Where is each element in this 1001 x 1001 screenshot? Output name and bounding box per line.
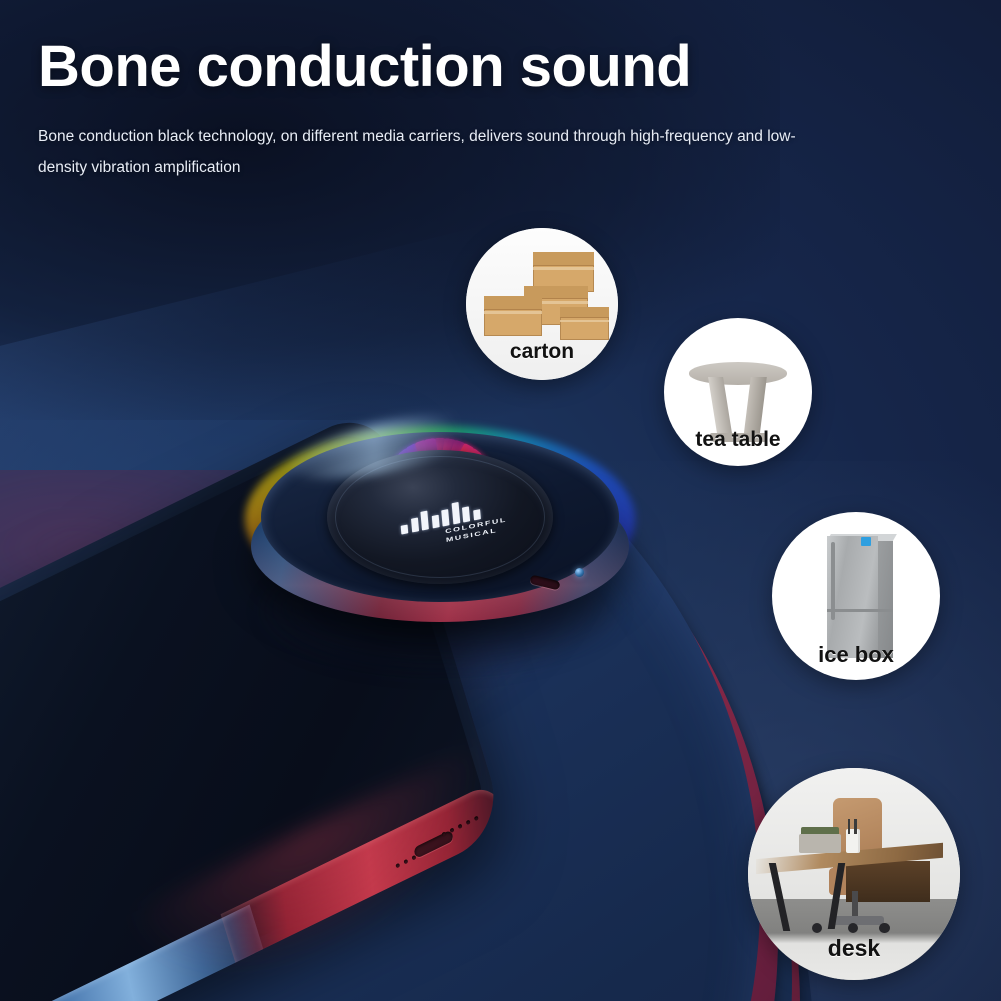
eq-segment-32: [381, 470, 402, 487]
rgb-speaker-device: COLORFUL MUSICAL: [245, 392, 635, 672]
power-button: [575, 568, 584, 577]
eq-segment-29: [378, 498, 397, 510]
callout-desk[interactable]: desk: [748, 768, 960, 980]
eq-segment-31: [379, 479, 399, 494]
carton-box-right: [560, 307, 609, 340]
logo-bar-2: [411, 518, 419, 533]
phone-charging-port: [413, 830, 454, 859]
phone-speaker-grille-right: [442, 816, 479, 837]
platform-lower-edge-highlight: [0, 470, 800, 1001]
eq-segment-23: [406, 536, 424, 557]
phone-side-rail-blue: [0, 904, 264, 1001]
desk-pen-1: [848, 819, 851, 834]
callout-tea-table[interactable]: tea table: [664, 318, 812, 466]
phone-speaker-grille-left: [395, 855, 416, 869]
logo-bar-3: [420, 511, 429, 531]
eq-segment-19: [442, 543, 456, 562]
eq-segment-20: [435, 544, 446, 562]
rgb-equalizer-ring: [261, 432, 619, 602]
platform-middle-tier: [0, 470, 792, 1001]
desk-planter-box: [799, 834, 841, 853]
smartphone-product-shot: [0, 404, 507, 1001]
equalizer-bars-logo: [400, 498, 481, 534]
eq-segment-22: [415, 540, 431, 560]
device-side-wall: [251, 470, 629, 622]
page-title: Bone conduction sound: [38, 36, 838, 99]
device-disc-ring: [335, 456, 545, 578]
eq-segment-15: [469, 526, 489, 546]
phone-side-rail-red: [220, 781, 507, 965]
brand-name: COLORFUL MUSICAL: [444, 515, 507, 544]
eq-segment-30: [378, 489, 397, 501]
banner-header: Bone conduction sound Bone conduction bl…: [38, 36, 838, 184]
device-side-highlight: [251, 470, 629, 622]
eq-segment-8: [478, 470, 499, 487]
callout-desk-label: desk: [748, 935, 960, 962]
callout-carton[interactable]: carton: [466, 228, 618, 380]
eq-segment-26: [385, 520, 406, 539]
eq-segment-27: [381, 513, 402, 530]
eq-segment-33: [385, 461, 406, 480]
eq-segment-18: [449, 540, 465, 560]
logo-bar-5: [441, 509, 449, 526]
fridge-front-panel: [827, 536, 877, 659]
desk-pen-2: [854, 819, 857, 834]
phone-chassis: [0, 404, 507, 1001]
logo-bar-1: [401, 525, 409, 535]
phone-reflection-glow: [128, 743, 516, 1001]
logo-bar-4: [431, 515, 439, 529]
brand-line-colorful: COLORFUL: [444, 515, 506, 536]
eq-segment-21: [424, 543, 438, 562]
platform-lower-tier: [0, 470, 814, 1001]
fridge-handle: [831, 542, 835, 619]
promo-banner: COLORFUL MUSICAL carton tea table: [0, 0, 1001, 1001]
fridge-door-split: [827, 609, 893, 612]
device-glow-halo: [245, 426, 635, 612]
page-subtitle: Bone conduction black technology, on dif…: [38, 121, 828, 185]
eq-segment-37: [415, 440, 431, 460]
callout-tea-table-label: tea table: [664, 428, 812, 452]
usb-c-port: [529, 575, 560, 591]
brand-line-musical: MUSICAL: [445, 524, 507, 545]
phone-screen: [0, 421, 492, 1001]
eq-segment-13: [478, 513, 499, 530]
eq-segment-11: [484, 498, 503, 510]
fridge-side-panel: [878, 541, 893, 659]
eq-segment-17: [456, 536, 474, 557]
platform-upper-edge-highlight: [0, 470, 778, 1001]
desk-cabinet: [846, 861, 931, 901]
device-center-disc: COLORFUL MUSICAL: [327, 450, 553, 584]
eq-segment-24: [398, 532, 418, 553]
callout-ice-box[interactable]: ice box: [772, 512, 940, 680]
eq-segment-25: [391, 526, 411, 546]
logo-bar-8: [473, 509, 481, 520]
platform-upper-tier: [0, 470, 760, 1001]
eq-segment-38: [424, 438, 438, 457]
logo-bar-7: [462, 506, 470, 522]
eq-segment-7: [474, 461, 495, 480]
eq-segment-4: [456, 443, 474, 464]
eq-segment-9: [482, 479, 502, 494]
eq-segment-12: [482, 506, 502, 521]
eq-segment-5: [463, 448, 483, 469]
logo-bar-6: [451, 502, 460, 524]
eq-segment-28: [379, 506, 399, 521]
device-drop-shadow: [263, 552, 617, 672]
eq-segment-34: [391, 454, 411, 474]
callout-ice-box-label: ice box: [772, 642, 940, 668]
eq-segment-1: [435, 438, 446, 456]
table-top: [689, 362, 787, 384]
fridge-badge: [861, 537, 871, 545]
callout-carton-label: carton: [466, 340, 618, 364]
eq-segment-3: [449, 440, 465, 460]
device-top-face: [261, 432, 619, 602]
eq-segment-36: [406, 443, 424, 464]
eq-segment-14: [474, 520, 495, 539]
eq-segment-10: [484, 489, 503, 501]
eq-segment-2: [442, 438, 456, 457]
eq-segment-16: [463, 532, 483, 553]
platform-reflection: [0, 470, 600, 800]
device-specular-glint: [282, 402, 488, 492]
eq-segment-6: [469, 454, 489, 474]
eq-segment-35: [398, 448, 418, 469]
carton-box-left: [484, 296, 542, 336]
